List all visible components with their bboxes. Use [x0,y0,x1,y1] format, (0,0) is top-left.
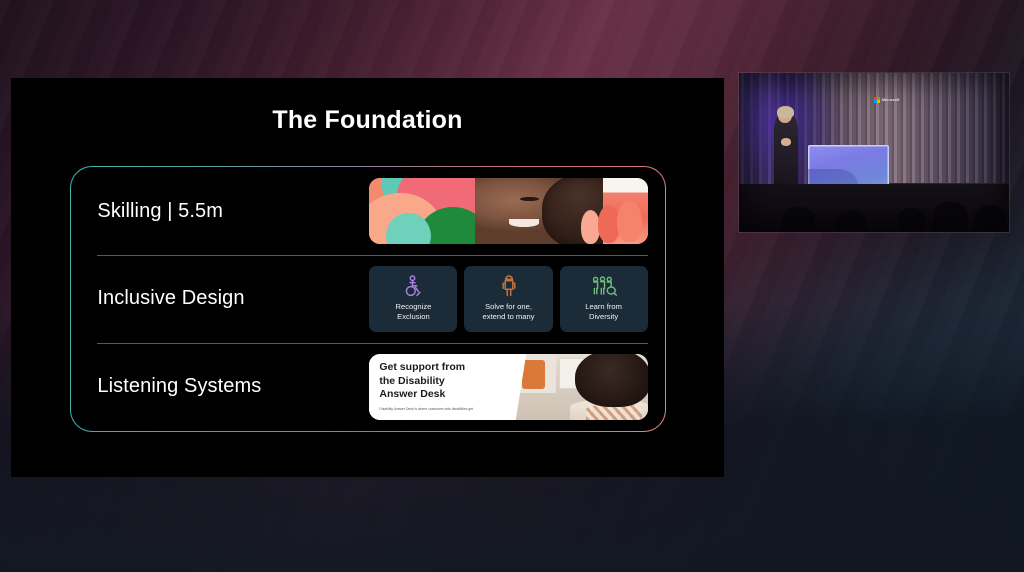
video-vignette [739,73,1009,232]
banner-photo [509,354,648,420]
row-label-skilling: Skilling | 5.5m [97,200,369,223]
banner-photo-person-pattern [586,405,642,420]
card-solve-for-one[interactable]: Solve for one, extend to many [464,266,552,332]
banner-subtitle: Disability Answer Desk is where customer… [379,407,502,412]
person-wheelchair-icon [403,274,423,298]
skilling-hero-image [369,178,647,244]
card-label-learn-from-diversity: Learn from Diversity [585,302,622,323]
foundation-row-listening-systems: Listening Systems Get support from the D… [71,343,664,431]
inclusive-design-cards: Recognize Exclusion [369,266,647,332]
skilling-media [369,178,647,244]
banner-photo-person-hair [575,354,647,407]
foundation-row-skilling: Skilling | 5.5m [71,167,664,255]
presenter-stage-video[interactable]: Microsoft [739,73,1009,232]
hero-petal-1 [617,201,642,242]
row-label-listening-systems: Listening Systems [97,375,369,398]
card-recognize-exclusion[interactable]: Recognize Exclusion [369,266,457,332]
card-learn-from-diversity[interactable]: Learn from Diversity [560,266,648,332]
hero-person-smile [509,219,540,227]
single-person-icon [500,274,518,298]
presentation-slide: The Foundation Skilling | 5.5m [11,78,724,477]
foundation-row-inclusive-design: Inclusive Design [71,255,664,343]
inclusive-design-media: Recognize Exclusion [369,266,647,332]
banner-title: Get support from the Disability Answer D… [379,361,502,403]
foundation-panel-inner: Skilling | 5.5m [71,167,664,430]
banner-photo-orange-block [522,360,544,389]
foundation-panel: Skilling | 5.5m [70,166,666,432]
listening-systems-media: Get support from the Disability Answer D… [369,354,647,420]
disability-answer-desk-banner: Get support from the Disability Answer D… [369,354,647,420]
card-label-solve-for-one: Solve for one, extend to many [483,302,535,323]
slide-title: The Foundation [11,106,724,135]
banner-text-block: Get support from the Disability Answer D… [369,354,508,420]
card-label-recognize-exclusion: Recognize Exclusion [395,302,431,323]
group-of-people-icon [591,274,617,298]
row-label-inclusive-design: Inclusive Design [97,287,369,310]
